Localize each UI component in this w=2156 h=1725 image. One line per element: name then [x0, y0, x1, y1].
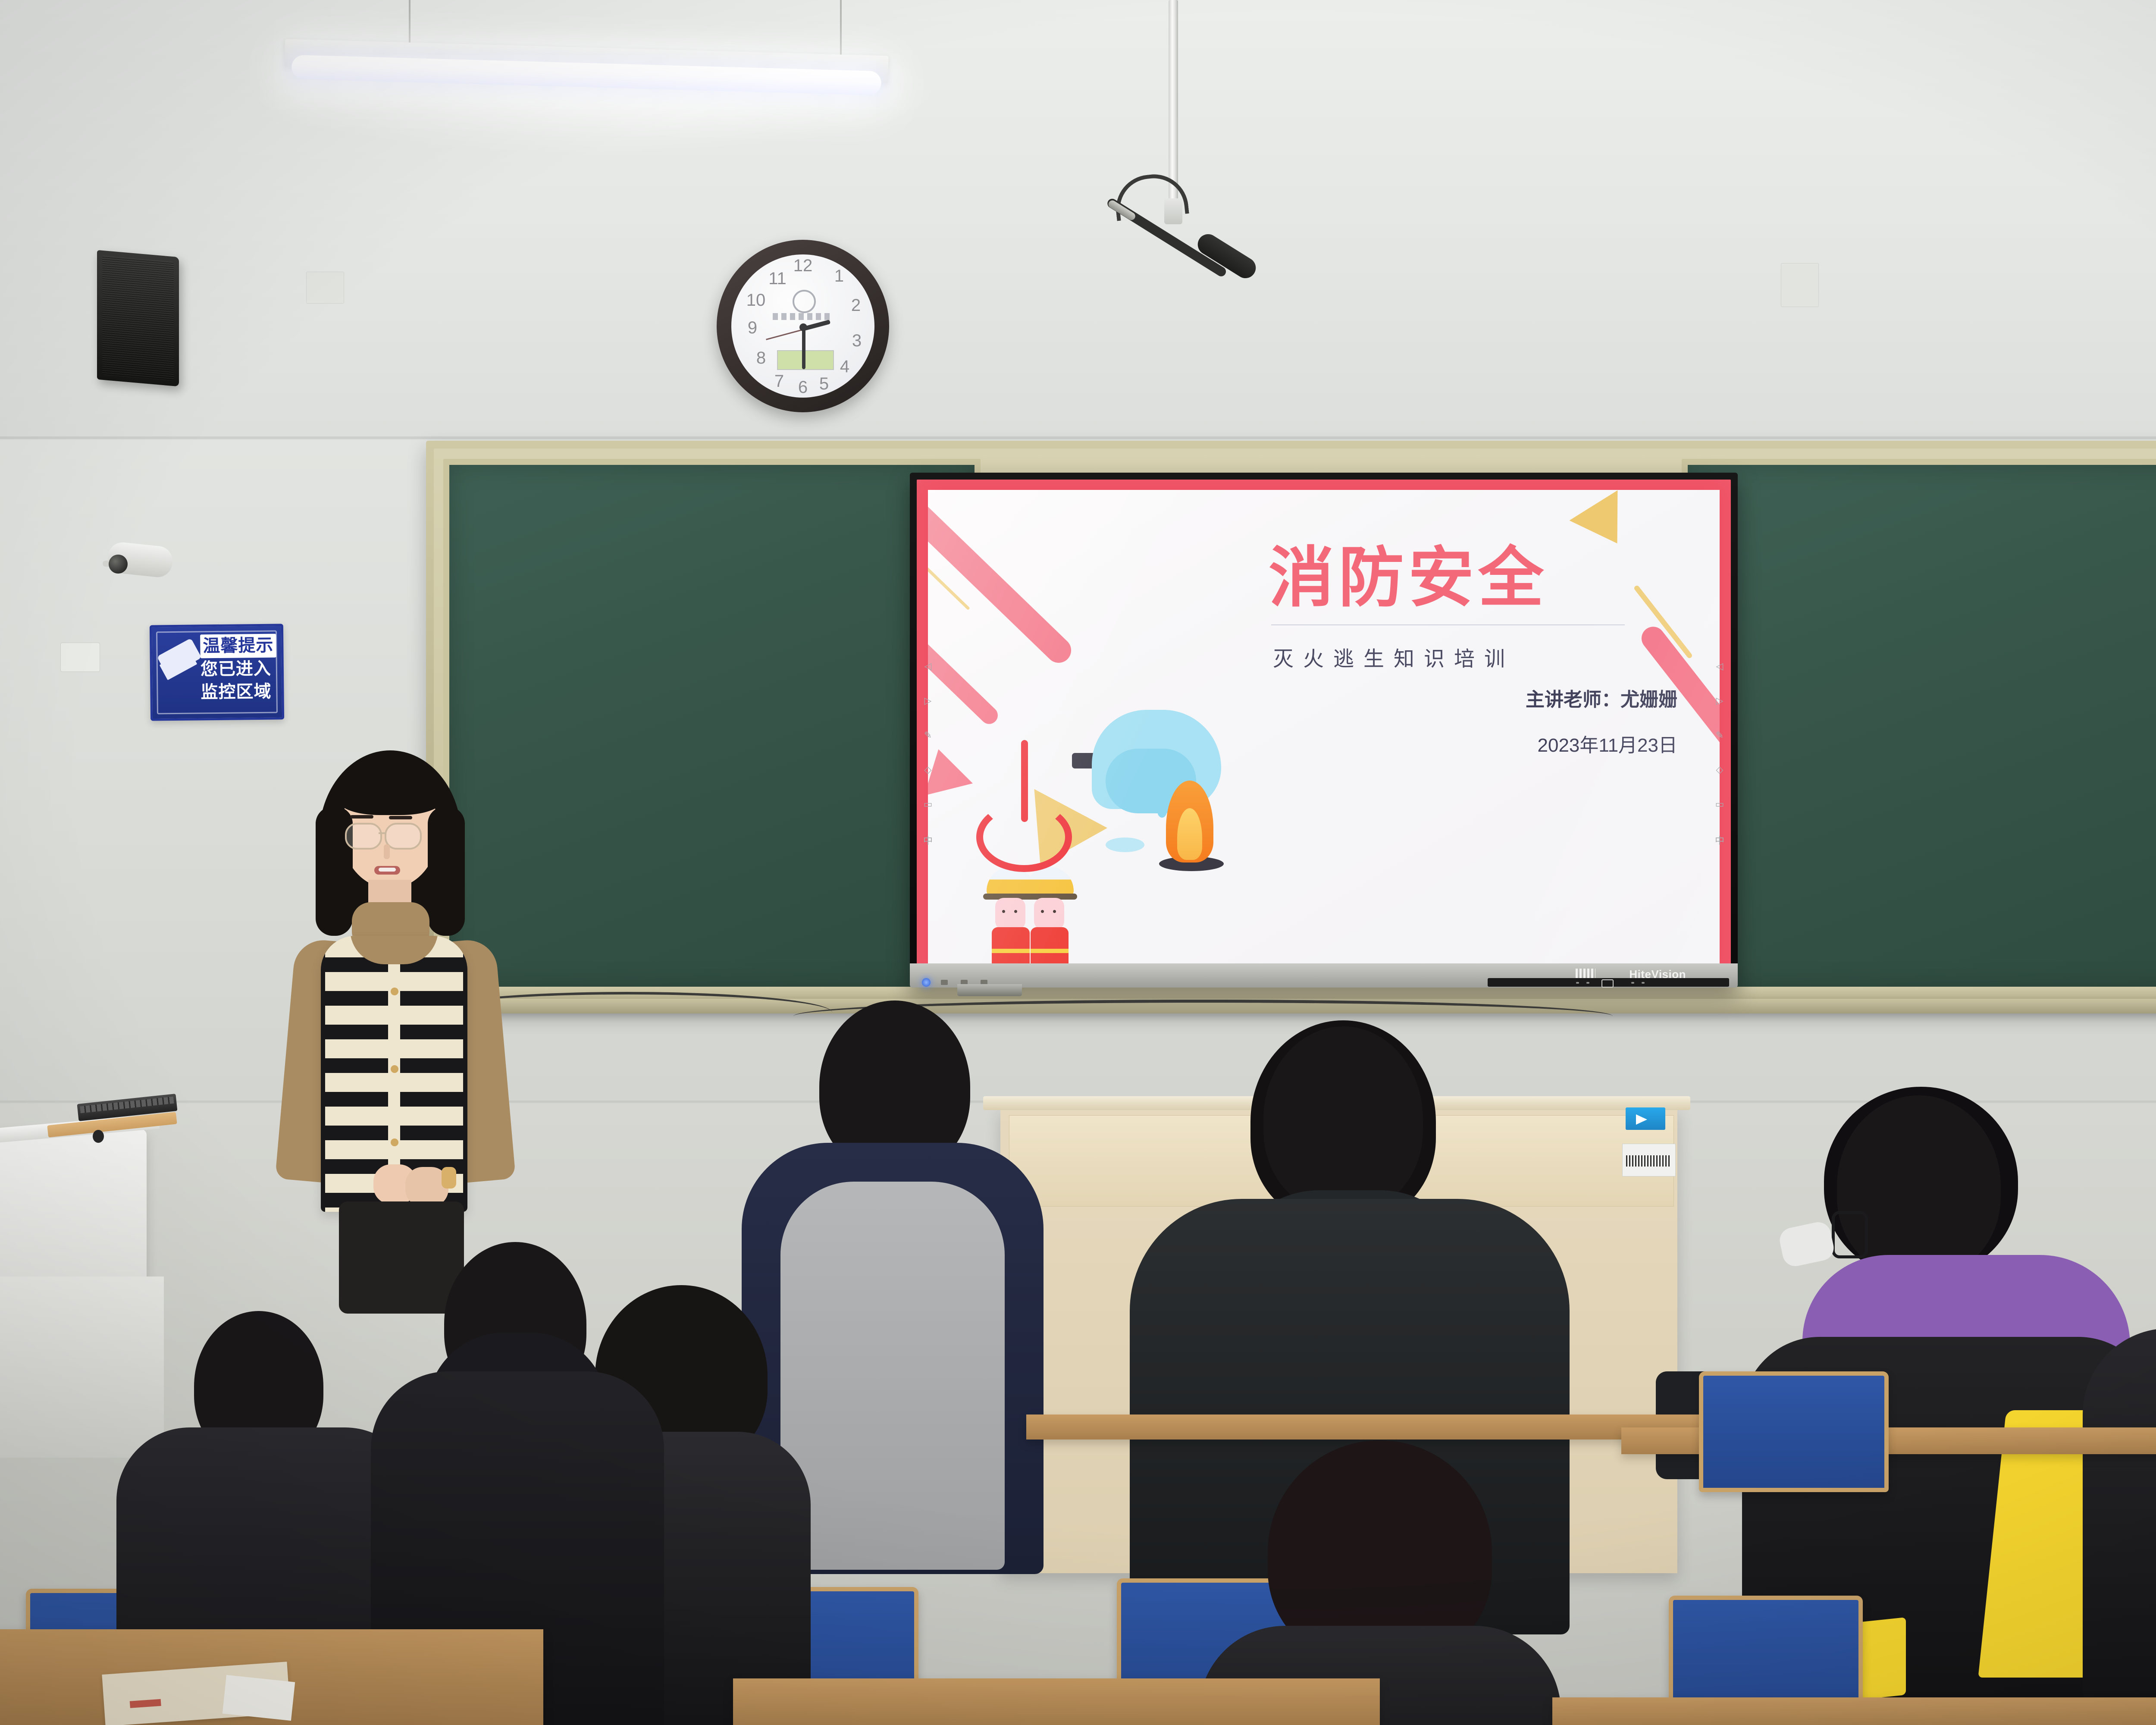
brand-logo-icon: [1576, 969, 1595, 978]
tool-forward-icon[interactable]: ▷: [918, 695, 937, 706]
clock-numeral: 7: [769, 372, 789, 391]
vest-edge: [463, 936, 467, 1212]
reflective-band: [1031, 949, 1069, 953]
eye: [1014, 910, 1017, 913]
tool-shape-icon[interactable]: ◇: [918, 764, 937, 775]
chalkboard-right: [1682, 459, 2156, 993]
water-droplet: [1157, 805, 1167, 818]
wall-speaker-left: [97, 250, 179, 387]
clock-numeral: 8: [751, 348, 771, 368]
home-button-icon[interactable]: [1601, 979, 1614, 988]
wristwatch-icon: [442, 1167, 456, 1189]
tool-pen-icon[interactable]: ✎: [1710, 730, 1729, 741]
bezel-indicator: [1586, 982, 1589, 984]
teeth: [379, 868, 396, 872]
slide-decor-triangle: [1569, 490, 1641, 558]
tool-ime-icon[interactable]: 中: [918, 833, 937, 847]
glasses-icon: [385, 823, 422, 850]
bezel-indicator: [1631, 982, 1634, 984]
barcode-icon: [1626, 1155, 1671, 1167]
clock-numeral: 12: [793, 256, 813, 276]
face: [1034, 898, 1064, 930]
sign-line-2: 监控区域: [201, 680, 279, 704]
torso: [2083, 1328, 2156, 1703]
clock-numeral: 9: [743, 318, 762, 338]
clock-logo-icon: [793, 290, 816, 313]
camera-lens-icon: [109, 555, 128, 574]
eye: [1002, 910, 1005, 913]
display-bezel: HiteVision: [910, 963, 1738, 988]
clock-second-hand: [766, 329, 804, 340]
glasses-bridge: [379, 832, 386, 834]
classroom-chair[interactable]: [1699, 1371, 1889, 1492]
eyebrow: [350, 815, 373, 819]
slide-title-rule: [1271, 624, 1625, 625]
tool-window-icon[interactable]: ▭: [1710, 799, 1729, 810]
slide-presenter-line: 主讲老师：尤姗姗: [1526, 684, 1677, 712]
student-desk: [733, 1678, 1380, 1725]
tool-forward-icon[interactable]: ▷: [1710, 695, 1729, 706]
tool-ime-icon[interactable]: 中: [1710, 833, 1729, 847]
uniform-torso: [992, 927, 1030, 968]
presentation-slide: 消防安全 灭火逃生知识培训 主讲老师：尤姗姗 2023年11月23日: [928, 490, 1720, 968]
student-desk: [1552, 1697, 2156, 1725]
glasses-icon: [1832, 1211, 1868, 1258]
clock-label-plate: [777, 350, 834, 370]
wall-clock: 12 1 2 3 4 5 6 7 8 9 10 11: [717, 240, 889, 412]
sign-line-1: 您已进入: [201, 657, 279, 681]
sign-title: 温馨提示: [200, 634, 276, 659]
tool-back-icon[interactable]: ◁: [1710, 661, 1729, 672]
firefighter-illustration: [976, 645, 1304, 887]
hair-right: [428, 806, 465, 936]
asset-barcode-label: [1622, 1144, 1676, 1176]
tool-shape-icon[interactable]: ◇: [1710, 764, 1729, 775]
eye: [1053, 910, 1056, 913]
clock-numeral: 2: [846, 296, 866, 315]
reflective-band: [992, 949, 1030, 953]
clock-numeral: 10: [746, 291, 766, 310]
vest-button: [391, 1065, 398, 1073]
wall-vent: [306, 272, 344, 304]
vest-button: [391, 988, 398, 995]
clock-brand-text: [773, 313, 833, 320]
tool-window-icon[interactable]: ▭: [918, 799, 937, 810]
display-toolbar-right[interactable]: ◁ ▷ ✎ ◇ ▭ 中: [1710, 661, 1729, 870]
eyebrow: [389, 816, 412, 819]
speaker-grill: [102, 256, 174, 381]
console-knob[interactable]: [93, 1130, 104, 1143]
clock-numeral: 6: [793, 378, 813, 397]
eye: [1041, 910, 1044, 913]
lectern-sticker: [1626, 1107, 1665, 1130]
tool-back-icon[interactable]: ◁: [918, 661, 937, 672]
pen-tray[interactable]: [957, 984, 1022, 996]
clock-hour-hand: [804, 320, 830, 331]
uniform-torso: [1031, 927, 1069, 968]
face: [995, 898, 1025, 930]
classroom-photo: 12 1 2 3 4 5 6 7 8 9 10 11 温馨提示 您已进入: [0, 0, 2156, 1725]
glasses-icon: [345, 823, 382, 850]
slide-subtitle: 灭火逃生知识培训: [1273, 642, 1514, 672]
wall-vent: [1781, 263, 1819, 307]
presenter-figure: [276, 750, 552, 1294]
power-led-icon[interactable]: [922, 978, 931, 987]
clock-numeral: 4: [835, 357, 855, 376]
cctv-warning-sign: 温馨提示 您已进入 监控区域: [150, 624, 284, 721]
clock-numeral: 11: [768, 269, 787, 289]
paper-marking: [130, 1699, 161, 1708]
wall-socket[interactable]: [60, 643, 100, 672]
clock-numeral: 5: [814, 374, 834, 394]
clock-center-pin: [799, 323, 807, 331]
student-figure: [2061, 1069, 2156, 1695]
slide-title: 消防安全: [1269, 545, 1548, 611]
tool-pen-icon[interactable]: ✎: [918, 730, 937, 741]
sign-text-block: 温馨提示 您已进入 监控区域: [200, 634, 279, 704]
bezel-indicator: [1642, 982, 1645, 984]
ceiling-seam: [0, 436, 2156, 439]
slide-decor-bar: [928, 494, 1076, 668]
paper-sheet: [222, 1675, 295, 1721]
clock-numeral: 3: [847, 331, 867, 351]
vest-button: [391, 1138, 398, 1146]
hose-line: [1021, 740, 1028, 822]
smart-display[interactable]: 消防安全 灭火逃生知识培训 主讲老师：尤姗姗 2023年11月23日 ◁ ▷ ✎…: [910, 473, 1738, 986]
clock-numeral: 1: [829, 267, 849, 286]
head: [1263, 1026, 1423, 1212]
clock-minute-hand: [802, 329, 805, 369]
bezel-button[interactable]: [941, 980, 948, 985]
microphone-mount: [1164, 198, 1182, 224]
vest-edge: [321, 936, 325, 1212]
hair-left: [316, 806, 353, 936]
nose: [384, 844, 390, 859]
display-toolbar-left[interactable]: ◁ ▷ ✎ ◇ ▭ 中: [918, 661, 937, 870]
bezel-indicator: [1576, 982, 1579, 984]
water-puddle: [1106, 837, 1144, 852]
display-screen[interactable]: 消防安全 灭火逃生知识培训 主讲老师：尤姗姗 2023年11月23日 ◁ ▷ ✎…: [917, 480, 1731, 979]
slide-date-line: 2023年11月23日: [1538, 730, 1678, 757]
clock-face: 12 1 2 3 4 5 6 7 8 9 10 11: [731, 254, 874, 398]
